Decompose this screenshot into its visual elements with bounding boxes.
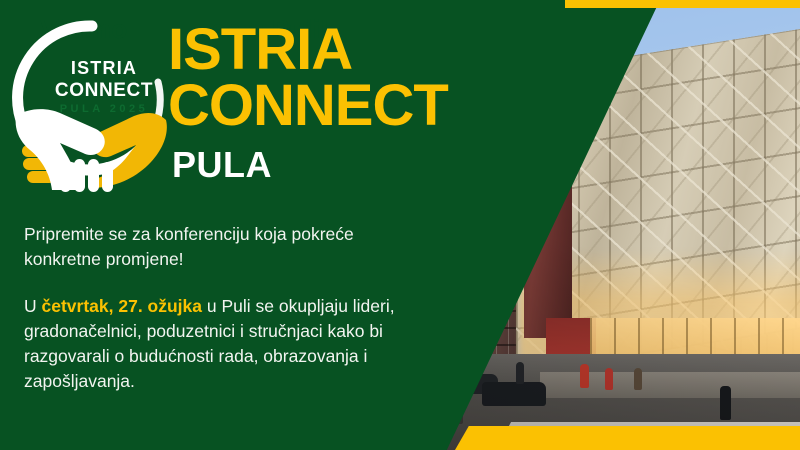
- brand-line-1: ISTRIA: [168, 22, 448, 78]
- top-yellow-strip: [565, 0, 800, 8]
- copy-p2-highlight: četvrtak, 27. ožujka: [42, 296, 203, 316]
- istria-connect-logo: ISTRIA CONNECT PULA 2025: [8, 12, 176, 192]
- logo-hand-yellow-icon: [90, 113, 167, 188]
- logo-svg: ISTRIA CONNECT PULA 2025: [8, 12, 176, 192]
- promo-banner: adz CO-WORKING Vidimose u Puli!: [0, 0, 800, 450]
- bottom-yellow-band: [455, 426, 800, 450]
- logo-fingers-white-icon: [60, 159, 113, 192]
- body-copy: Pripremite se za konferenciju koja pokre…: [24, 222, 414, 394]
- copy-paragraph-2: U četvrtak, 27. ožujka u Puli se okuplja…: [24, 294, 414, 394]
- brand-subtitle: PULA: [172, 144, 272, 186]
- brand-title: ISTRIA CONNECT: [168, 22, 448, 133]
- copy-p2-pre: U: [24, 296, 42, 316]
- logo-line1: ISTRIA: [71, 58, 137, 78]
- logo-line3: PULA 2025: [60, 103, 149, 115]
- logo-line2: CONNECT: [55, 80, 153, 101]
- copy-paragraph-1: Pripremite se za konferenciju koja pokre…: [24, 222, 414, 272]
- brand-line-2: CONNECT: [168, 78, 448, 134]
